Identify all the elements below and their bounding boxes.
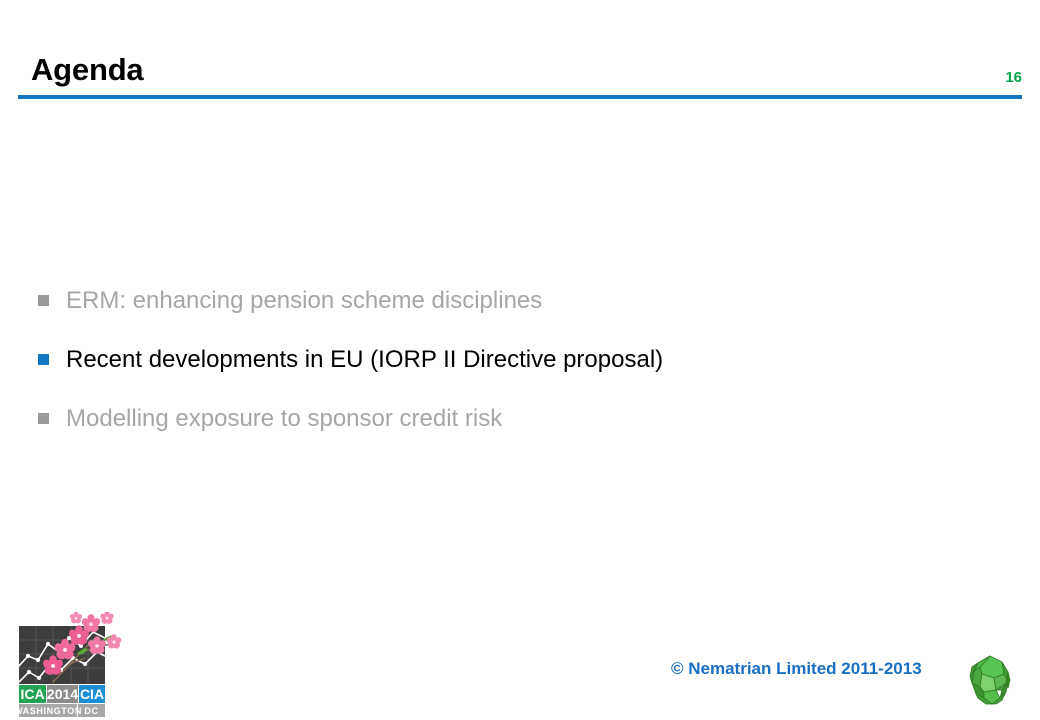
logo-ica-label: ICA xyxy=(20,686,44,702)
title-divider xyxy=(18,95,1022,99)
logo-year-label: 2014 xyxy=(47,686,78,702)
square-bullet-icon xyxy=(38,354,49,365)
square-bullet-icon xyxy=(38,295,49,306)
agenda-item-eu-developments[interactable]: Recent developments in EU (IORP II Direc… xyxy=(0,345,1040,404)
ica-2014-cia-washington-dc-logo: ICA 2014 CIA WASHINGTON DC xyxy=(19,612,131,720)
slide-canvas: Agenda 16 ERM: enhancing pension scheme … xyxy=(0,0,1040,720)
nematrian-polyhedron-icon xyxy=(966,654,1014,706)
slide-number: 16 xyxy=(1005,70,1022,85)
agenda-item-label: Recent developments in EU (IORP II Direc… xyxy=(66,345,663,374)
copyright-text: © Nematrian Limited 2011-2013 xyxy=(671,660,922,677)
agenda-item-label: ERM: enhancing pension scheme discipline… xyxy=(66,286,542,315)
agenda-item-erm[interactable]: ERM: enhancing pension scheme discipline… xyxy=(0,286,1040,345)
logo-city-label: WASHINGTON xyxy=(19,706,82,716)
square-bullet-icon xyxy=(38,413,49,424)
agenda-item-sponsor-credit-risk[interactable]: Modelling exposure to sponsor credit ris… xyxy=(0,404,1040,463)
agenda-list: ERM: enhancing pension scheme discipline… xyxy=(0,286,1040,463)
page-title: Agenda xyxy=(31,54,143,85)
logo-cia-label: CIA xyxy=(80,686,104,702)
logo-state-label: DC xyxy=(84,706,98,716)
agenda-item-label: Modelling exposure to sponsor credit ris… xyxy=(66,404,502,433)
